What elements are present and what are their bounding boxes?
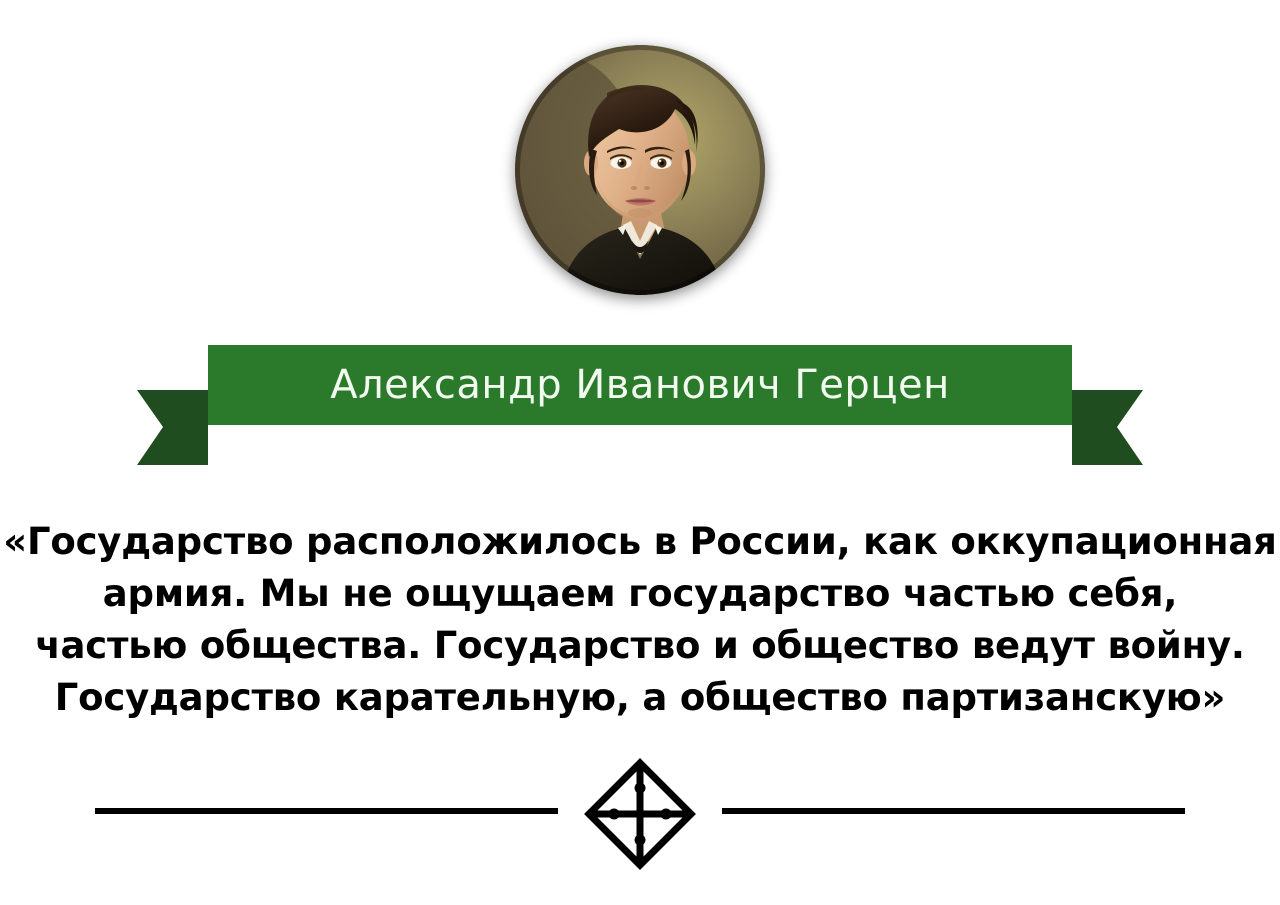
banner-tail-left [137,390,208,465]
quote-line: частью общества. Государство и общество … [0,620,1280,672]
person-name: Александр Иванович Герцен [208,345,1072,425]
banner-tail-right [1072,390,1143,465]
quote-line: «Государство расположилось в России, как… [0,516,1280,568]
divider-rule-right [722,808,1185,814]
quote-line: Государство карательную, а общество парт… [0,672,1280,724]
diamond-quatrefoil-icon [583,757,697,871]
quote-line: армия. Мы не ощущаем государство частью … [0,568,1280,620]
divider-rule-left [95,808,558,814]
portrait-image [515,45,765,295]
quote-text: «Государство расположилось в России, как… [0,516,1280,724]
portrait-container [515,45,765,295]
quote-card: Александр Иванович Герцен «Государство р… [0,0,1280,905]
decorative-divider [0,757,1280,875]
